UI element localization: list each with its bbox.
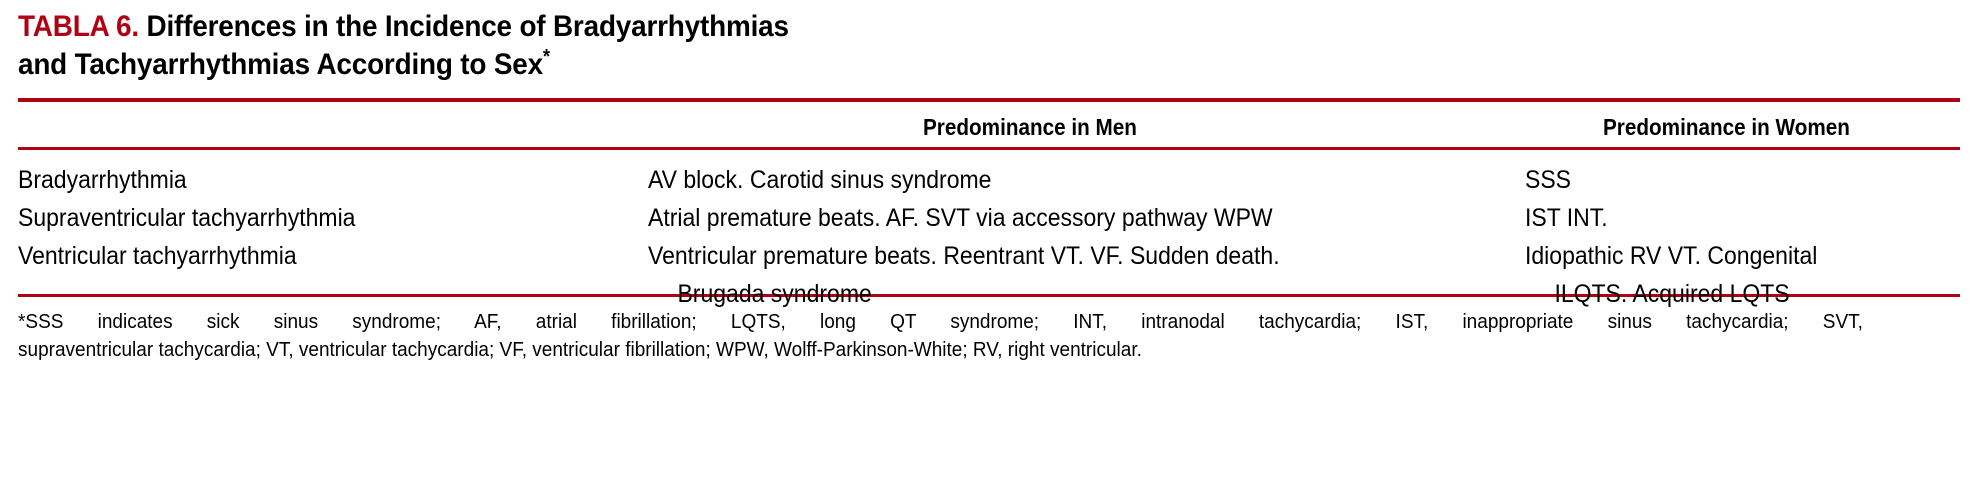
table-row: Bradyarrhythmia AV block. Carotid sinus …: [18, 161, 1960, 199]
cell-women-bradyarrhythmia: SSS: [1525, 161, 1571, 199]
cell-men-ventricular-tachyarrhythmia: Ventricular premature beats. Reentrant V…: [648, 237, 1280, 313]
table-number-label: TABLA 6.: [18, 10, 139, 43]
footnote-line-2: supraventricular tachycardia; VT, ventri…: [18, 336, 1863, 364]
cell-women-supraventricular-tachyarrhythmia: IST INT.: [1525, 199, 1608, 237]
row-label-bradyarrhythmia: Bradyarrhythmia: [18, 161, 187, 199]
table-body: Bradyarrhythmia AV block. Carotid sinus …: [18, 150, 1960, 294]
title-footnote-marker: *: [543, 46, 550, 68]
row-label-supraventricular-tachyarrhythmia: Supraventricular tachyarrhythmia: [18, 199, 355, 237]
cell-men-ventricular-line-1: Ventricular premature beats. Reentrant V…: [648, 242, 1280, 270]
table-footnote: *SSS indicates sick sinus syndrome; AF, …: [18, 308, 1863, 364]
table-figure: TABLA 6. Differences in the Incidence of…: [0, 0, 1978, 482]
column-header-women: Predominance in Women: [1603, 114, 1850, 141]
cell-men-supraventricular-tachyarrhythmia: Atrial premature beats. AF. SVT via acce…: [648, 199, 1273, 237]
table-title: TABLA 6. Differences in the Incidence of…: [18, 0, 1824, 84]
column-header-men: Predominance in Men: [923, 114, 1137, 141]
table-row: Supraventricular tachyarrhythmia Atrial …: [18, 199, 1960, 237]
cell-women-ventricular-tachyarrhythmia: Idiopathic RV VT. Congenital ILQTS. Acqu…: [1525, 237, 1817, 313]
footnote-line-1: *SSS indicates sick sinus syndrome; AF, …: [18, 308, 1863, 336]
row-label-ventricular-tachyarrhythmia: Ventricular tachyarrhythmia: [18, 237, 297, 275]
table-row: Ventricular tachyarrhythmia Ventricular …: [18, 237, 1960, 313]
cell-women-ventricular-line-1: Idiopathic RV VT. Congenital: [1525, 242, 1817, 270]
table-header-row: Predominance in Men Predominance in Wome…: [18, 102, 1960, 147]
table-title-line-1: Differences in the Incidence of Bradyarr…: [147, 10, 789, 43]
cell-men-bradyarrhythmia: AV block. Carotid sinus syndrome: [648, 161, 991, 199]
table-title-line-2: and Tachyarrhythmias According to Sex: [18, 48, 543, 81]
